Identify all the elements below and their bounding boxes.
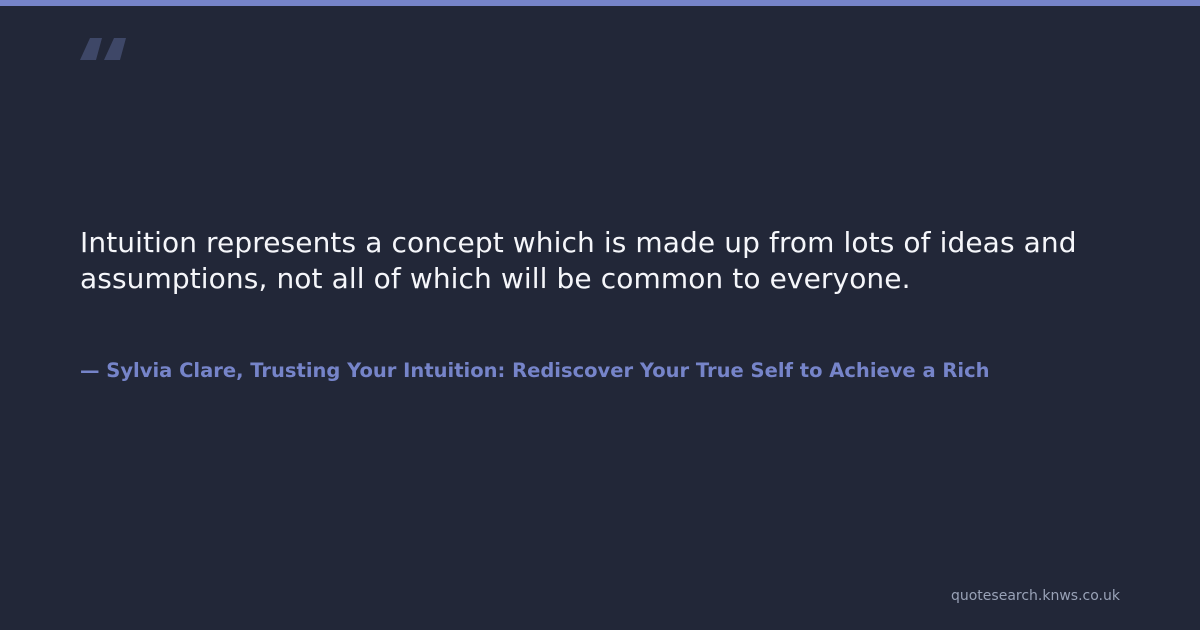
quote-attribution: — Sylvia Clare, Trusting Your Intuition:…: [80, 357, 1200, 385]
quote-card: Intuition represents a concept which is …: [0, 0, 1200, 630]
double-quote-icon: [78, 10, 148, 80]
top-accent-bar: [0, 0, 1200, 6]
site-url-label: quotesearch.knws.co.uk: [951, 586, 1120, 606]
quote-text: Intuition represents a concept which is …: [80, 225, 1080, 297]
